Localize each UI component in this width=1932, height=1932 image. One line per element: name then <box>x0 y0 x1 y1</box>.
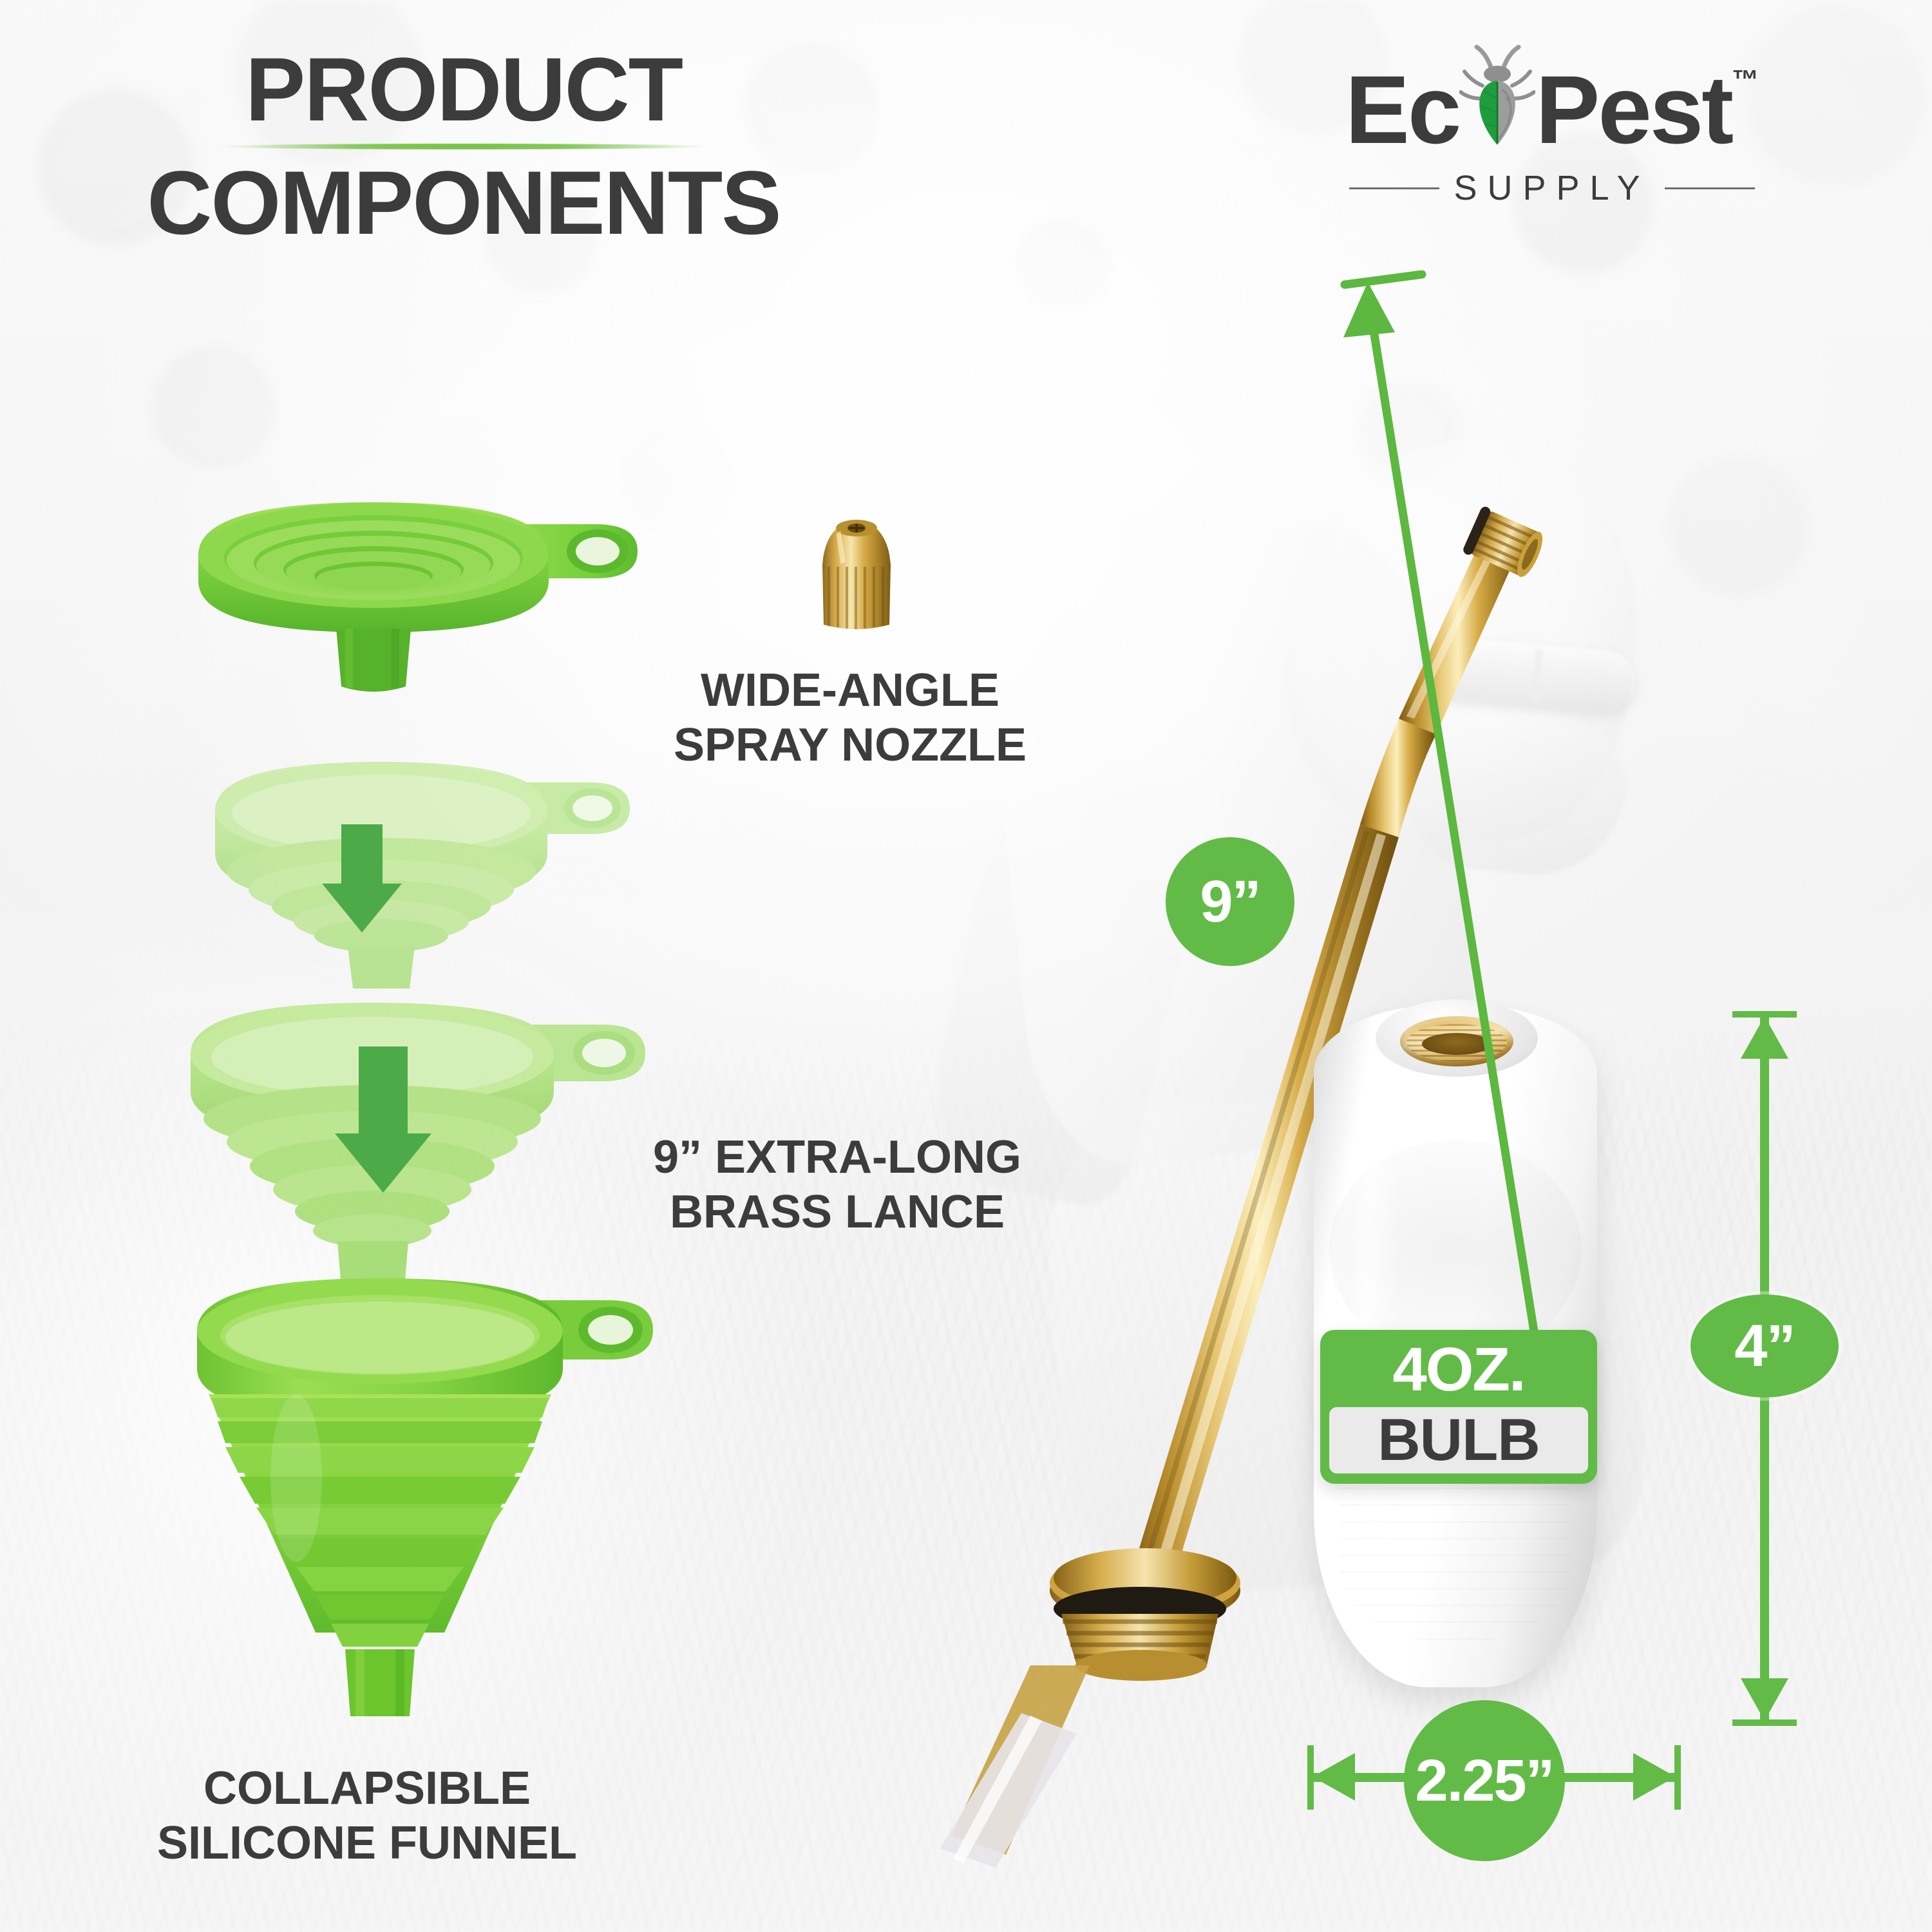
dimension-arrow-left <box>1312 1753 1355 1801</box>
bulb-height-badge: 4” <box>1690 1294 1839 1397</box>
arrow-head <box>322 884 402 933</box>
lance-label-line-1: 9” EXTRA-LONG <box>618 1130 1056 1185</box>
page-title: PRODUCT COMPONENTS <box>116 45 811 247</box>
page-title-line-2: COMPONENTS <box>116 158 811 247</box>
page-title-line-1: PRODUCT <box>116 45 811 133</box>
collapse-arrow-2-icon <box>335 1046 431 1193</box>
logo-tagline-row: SUPPLY <box>1320 168 1784 208</box>
arrow-head <box>335 1133 431 1193</box>
logo-rule-right <box>1665 187 1755 189</box>
dimension-arrow-right <box>1633 1753 1676 1801</box>
dimension-arrow-up <box>1741 1016 1788 1059</box>
lance-length-badge: 9” <box>1166 837 1294 966</box>
arrow-shaft <box>341 824 383 884</box>
capacity-badge: 4OZ. BULB <box>1320 1330 1597 1484</box>
nozzle-label: WIDE-ANGLE SPRAY NOZZLE <box>650 663 1050 773</box>
lance-label-line-2: BRASS LANCE <box>618 1185 1056 1240</box>
funnel-collapsed <box>187 496 650 728</box>
collapse-arrow-1-icon <box>322 824 402 933</box>
bulb-width-badge: 2.25” <box>1404 1700 1565 1861</box>
leaf-bug-icon <box>1459 61 1535 158</box>
arrow-shaft <box>359 1046 408 1133</box>
capacity-badge-volume: 4OZ. <box>1329 1339 1588 1401</box>
logo-tagline: SUPPLY <box>1454 168 1650 208</box>
logo-rule-left <box>1349 187 1439 189</box>
funnel-fully-expanded <box>187 1272 663 1716</box>
lance-label: 9” EXTRA-LONG BRASS LANCE <box>618 1130 1056 1240</box>
lance-length-measure-line <box>1018 270 1713 1494</box>
funnel-partially-expanded <box>206 757 638 989</box>
logo-wordmark: Ec Pest <box>1320 61 1784 158</box>
dimension-arrow-down <box>1741 1678 1788 1721</box>
logo-text-pest: Pest <box>1535 61 1732 158</box>
capacity-badge-type: BULB <box>1329 1407 1588 1473</box>
funnel-label: COLLAPSIBLE SILICONE FUNNEL <box>109 1761 625 1871</box>
nozzle-label-line-1: WIDE-ANGLE <box>650 663 1050 718</box>
brand-logo: Ec Pest <box>1320 61 1784 208</box>
trademark-symbol: ™ <box>1732 66 1759 93</box>
title-divider <box>219 144 708 149</box>
logo-text-eco: Ec <box>1345 61 1459 158</box>
nozzle-label-line-2: SPRAY NOZZLE <box>650 718 1050 773</box>
funnel-label-line-1: COLLAPSIBLE <box>109 1761 625 1816</box>
funnel-label-line-2: SILICONE FUNNEL <box>109 1816 625 1871</box>
